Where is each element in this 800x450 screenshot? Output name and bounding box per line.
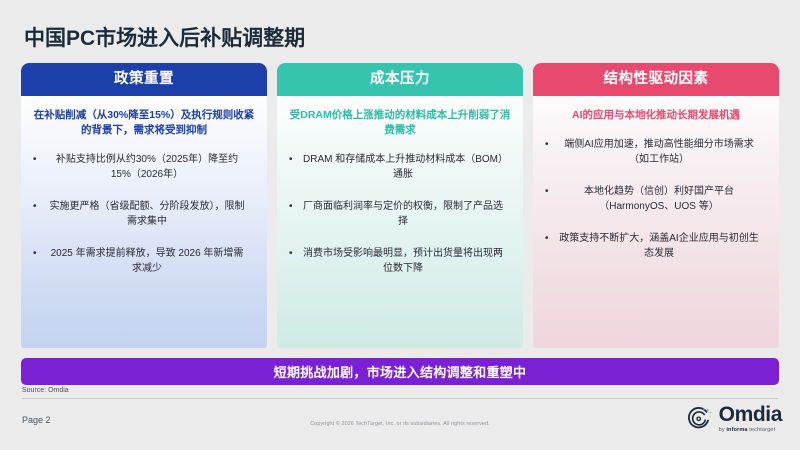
column-header-policy: 政策重置 xyxy=(21,63,267,96)
list-item: •厂商面临利润率与定价的权衡，限制了产品选择 xyxy=(286,199,514,229)
bullet-list-structural: •端侧AI应用加速，推动高性能细分市场需求（如工作站） •本地化趋势（信创）利好… xyxy=(542,137,770,261)
column-body-structural: AI的应用与本地化推动长期发展机遇 •端侧AI应用加速，推动高性能细分市场需求（… xyxy=(533,96,779,348)
column-header-structural: 结构性驱动因素 xyxy=(533,63,779,96)
omdia-tagline: by informa techtarget xyxy=(719,428,782,434)
bullet-dot-icon: • xyxy=(545,137,549,152)
tagline-brand: informa xyxy=(726,427,747,433)
column-policy: 政策重置 在补贴削减（从30%降至15%）及执行规则收紧的背景下，需求将受到抑制… xyxy=(21,63,267,348)
omdia-wordmark: Omdia xyxy=(719,404,782,425)
column-body-policy: 在补贴削减（从30%降至15%）及执行规则收紧的背景下，需求将受到抑制 •补贴支… xyxy=(21,96,267,348)
tagline-suffix: techtarget xyxy=(748,427,776,433)
footer-divider xyxy=(22,398,778,399)
column-subtitle-policy: 在补贴削减（从30%降至15%）及执行规则收紧的背景下，需求将受到抑制 xyxy=(32,108,256,138)
list-item: •补贴支持比例从约30%（2025年）降至约15%（2026年） xyxy=(30,152,258,182)
page-title: 中国PC市场进入后补贴调整期 xyxy=(24,22,305,52)
bullet-dot-icon: • xyxy=(33,246,37,261)
bullet-text: 政策支持不断扩大，涵盖AI企业应用与初创生态发展 xyxy=(559,233,758,259)
bullet-dot-icon: • xyxy=(33,152,37,167)
bullet-list-cost: •DRAM 和存储成本上升推动材料成本（BOM）通胀 •厂商面临利润率与定价的权… xyxy=(286,152,514,276)
list-item: •2025 年需求提前释放，导致 2026 年新增需求减少 xyxy=(30,246,258,276)
bullet-text: 2025 年需求提前释放，导致 2026 年新增需求减少 xyxy=(51,248,244,274)
column-subtitle-cost: 受DRAM价格上涨推动的材料成本上升削弱了消费需求 xyxy=(288,108,512,138)
bullet-text: 本地化趋势（信创）利好国产平台（HarmonyOS、UOS 等） xyxy=(584,186,734,212)
slide-canvas: 中国PC市场进入后补贴调整期 政策重置 在补贴削减（从30%降至15%）及执行规… xyxy=(0,0,800,450)
bullet-text: 实施更严格（省级配额、分阶段发放），限制需求集中 xyxy=(50,201,245,227)
bullet-text: 厂商面临利润率与定价的权衡，限制了产品选择 xyxy=(303,201,503,227)
bullet-dot-icon: • xyxy=(289,246,293,261)
column-body-cost: 受DRAM价格上涨推动的材料成本上升削弱了消费需求 •DRAM 和存储成本上升推… xyxy=(277,96,523,348)
column-structural: 结构性驱动因素 AI的应用与本地化推动长期发展机遇 •端侧AI应用加速，推动高性… xyxy=(533,63,779,348)
bullet-dot-icon: • xyxy=(33,199,37,214)
column-cost: 成本压力 受DRAM价格上涨推动的材料成本上升削弱了消费需求 •DRAM 和存储… xyxy=(277,63,523,348)
summary-banner-text: 短期挑战加剧，市场进入结构调整和重塑中 xyxy=(274,362,527,381)
list-item: •实施更严格（省级配额、分阶段发放），限制需求集中 xyxy=(30,199,258,229)
bullet-dot-icon: • xyxy=(289,199,293,214)
bullet-text: 消费市场受影响最明显，预计出货量将出现两位数下降 xyxy=(303,248,503,274)
bullet-dot-icon: • xyxy=(289,152,293,167)
bullet-text: 补贴支持比例从约30%（2025年）降至约15%（2026年） xyxy=(56,154,238,180)
list-item: •政策支持不断扩大，涵盖AI企业应用与初创生态发展 xyxy=(542,231,770,261)
source-note: Source: Omdia xyxy=(22,387,69,394)
copyright-notice: Copyright © 2026 TechTarget, Inc. or its… xyxy=(0,421,800,427)
summary-banner: 短期挑战加剧，市场进入结构调整和重塑中 xyxy=(21,358,779,385)
omdia-swirl-icon xyxy=(684,404,714,434)
bullet-text: DRAM 和存储成本上升推动材料成本（BOM）通胀 xyxy=(303,154,503,180)
bullet-text: 端侧AI应用加速，推动高性能细分市场需求（如工作站） xyxy=(564,139,753,165)
omdia-wordmark-group: Omdia by informa techtarget xyxy=(719,404,782,434)
column-subtitle-structural: AI的应用与本地化推动长期发展机遇 xyxy=(544,108,768,123)
bullet-list-policy: •补贴支持比例从约30%（2025年）降至约15%（2026年） •实施更严格（… xyxy=(30,152,258,276)
list-item: •端侧AI应用加速，推动高性能细分市场需求（如工作站） xyxy=(542,137,770,167)
list-item: •DRAM 和存储成本上升推动材料成本（BOM）通胀 xyxy=(286,152,514,182)
list-item: •消费市场受影响最明显，预计出货量将出现两位数下降 xyxy=(286,246,514,276)
list-item: •本地化趋势（信创）利好国产平台（HarmonyOS、UOS 等） xyxy=(542,184,770,214)
omdia-logo: Omdia by informa techtarget xyxy=(684,404,782,434)
columns-container: 政策重置 在补贴削减（从30%降至15%）及执行规则收紧的背景下，需求将受到抑制… xyxy=(21,63,779,348)
bullet-dot-icon: • xyxy=(545,231,549,246)
bullet-dot-icon: • xyxy=(545,184,549,199)
column-header-cost: 成本压力 xyxy=(277,63,523,96)
